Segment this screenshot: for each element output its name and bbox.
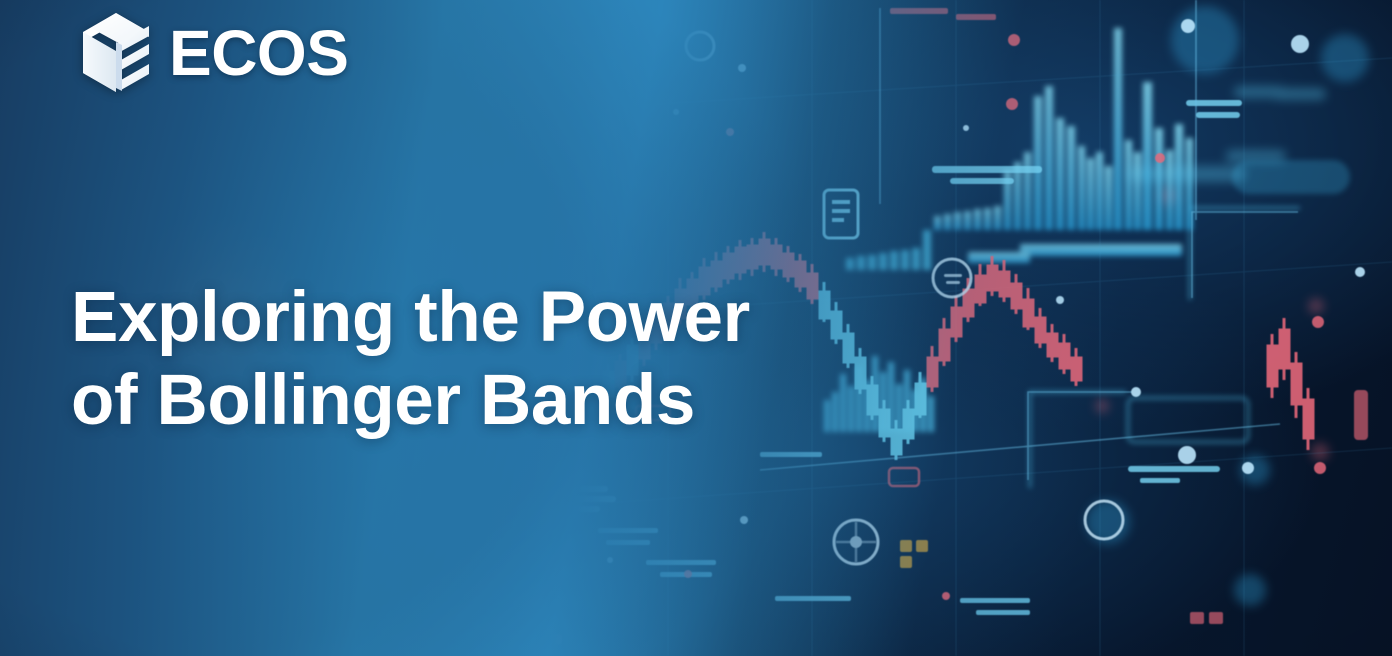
page-title: Exploring the Power of Bollinger Bands (71, 276, 831, 442)
ecos-cube-logo-icon (80, 12, 152, 94)
banner: ECOS Exploring the Power of Bollinger Ba… (0, 0, 1392, 656)
brand-name: ECOS (169, 21, 348, 85)
brand-logo[interactable]: ECOS (80, 12, 348, 94)
